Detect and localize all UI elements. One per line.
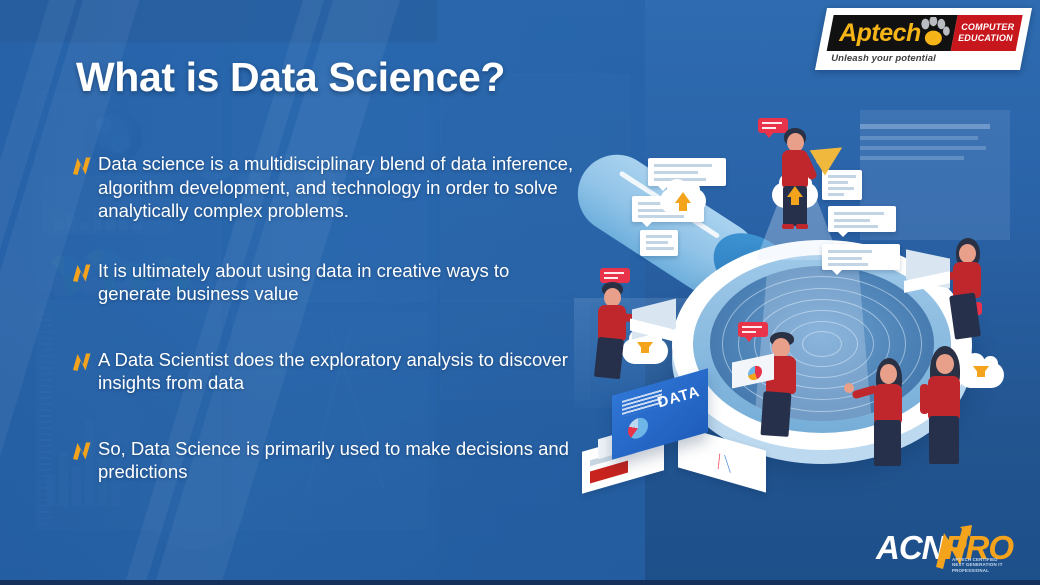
person-with-laptop-right (940, 238, 1000, 338)
person-with-laptop-left (590, 282, 648, 378)
shoe (796, 224, 808, 229)
acn-zigzag-icon (70, 351, 94, 373)
torso (874, 384, 902, 424)
illus-bg-line (860, 146, 986, 150)
list-item-label: So, Data Science is primarily used to ma… (98, 437, 582, 484)
legs (949, 292, 981, 339)
info-card (640, 230, 678, 256)
info-card (822, 170, 862, 200)
paw-print-icon (918, 17, 950, 47)
arrow-down-icon (637, 342, 653, 353)
list-item-label: A Data Scientist does the exploratory an… (98, 348, 582, 395)
chat-bubble (600, 268, 630, 283)
aptech-category-panel: COMPUTER EDUCATION (951, 15, 1023, 51)
acn-subtext: APTECH CERTIFIED NEXT GENERATION IT PROF… (952, 557, 1026, 573)
aptech-line2: EDUCATION (958, 33, 1013, 44)
person-seated-with-tablet (756, 332, 818, 436)
illus-bg-line (860, 124, 990, 129)
shoe (782, 224, 794, 229)
arrow-up-icon (675, 192, 691, 203)
bottom-bar (0, 580, 1040, 585)
list-item: It is ultimately about using data in cre… (70, 259, 582, 306)
legs (594, 337, 624, 379)
list-item-label: It is ultimately about using data in cre… (98, 259, 582, 306)
list-item: So, Data Science is primarily used to ma… (70, 437, 582, 484)
info-card (822, 244, 900, 270)
torso (928, 376, 960, 420)
page-title: What is Data Science? (76, 54, 505, 101)
cloud-upload-icon (660, 188, 706, 214)
acn-zigzag-icon (70, 440, 94, 462)
acn-zigzag-icon (70, 262, 94, 284)
head (959, 244, 976, 263)
list-item: A Data Scientist does the exploratory an… (70, 348, 582, 395)
list-item: Data science is a multidisciplinary blen… (70, 152, 582, 223)
head (880, 364, 897, 384)
aptech-line1: COMPUTER (961, 22, 1014, 33)
arm (920, 384, 929, 414)
arrow-up-icon (787, 186, 803, 197)
info-card (828, 206, 896, 232)
acn-zigzag-icon (70, 155, 94, 177)
head (772, 338, 790, 358)
head (936, 354, 954, 374)
torso (598, 305, 626, 341)
hand (844, 383, 854, 393)
book-pie-chart (628, 415, 648, 441)
aptech-logo[interactable]: Aptech COMPUTER EDUCATION Unleash your p… (815, 8, 1032, 70)
legs (874, 420, 901, 466)
illus-bg-line (860, 136, 978, 140)
book-title: DATA (655, 383, 701, 411)
aptech-tagline: Unleash your potential (831, 53, 936, 64)
illus-bg-line (860, 156, 964, 160)
bullet-list: Data science is a multidisciplinary blen… (70, 152, 582, 514)
acn-prefix: AC (876, 529, 922, 566)
acn-pro-logo[interactable]: ACNPRO APTECH CERTIFIED NEXT GENERATION … (876, 523, 1026, 575)
acn-subline-2: NEXT GENERATION IT PROFESSIONAL (952, 562, 1026, 573)
aptech-logo-inner: Aptech COMPUTER EDUCATION Unleash your p… (815, 8, 1032, 70)
list-item-label: Data science is a multidisciplinary blen… (98, 152, 582, 223)
legs (760, 391, 791, 437)
person-standing-right (912, 346, 978, 464)
info-card (648, 158, 726, 186)
legs (929, 416, 959, 464)
person-presenter (772, 128, 822, 228)
data-science-magnifier-illustration: DATA (560, 110, 1040, 530)
slide-canvas: DATA Aptech COMPUTER EDUCATION Unleash y… (0, 0, 1040, 585)
aptech-brand-text: Aptech (839, 19, 921, 48)
arrow-down-icon (973, 366, 989, 377)
